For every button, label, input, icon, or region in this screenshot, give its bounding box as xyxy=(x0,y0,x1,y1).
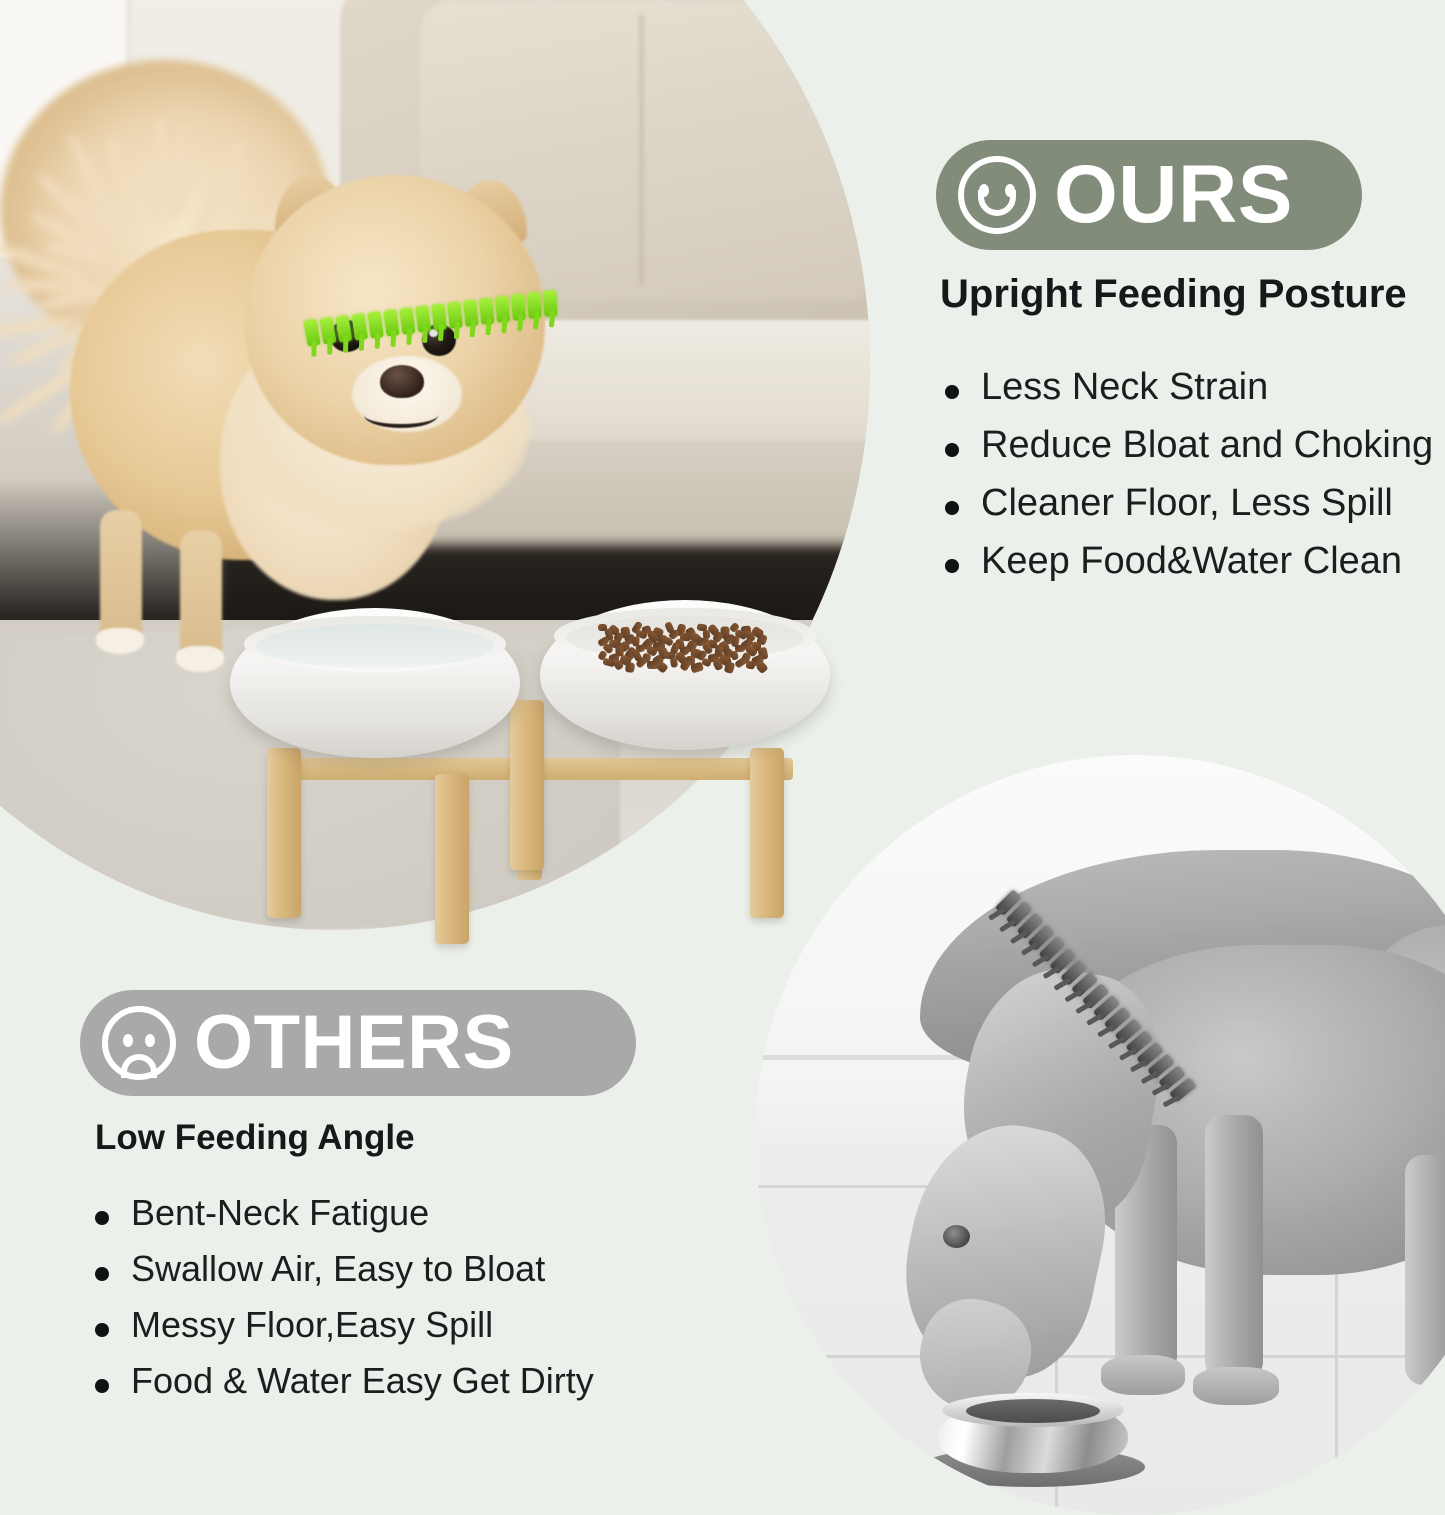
bullet-dot xyxy=(945,501,959,515)
infographic-canvas: OURS Upright Feeding Posture Less Neck S… xyxy=(0,0,1445,1445)
dog-eye xyxy=(943,1225,970,1248)
ours-badge: OURS xyxy=(936,140,1362,250)
list-item-label: Messy Floor,Easy Spill xyxy=(131,1304,493,1346)
frowning-face-icon xyxy=(102,1006,176,1080)
others-badge-label: OTHERS xyxy=(194,1005,514,1081)
others-lifestyle-photo xyxy=(755,755,1445,1515)
dog-mouth xyxy=(364,402,438,428)
list-item-label: Less Neck Strain xyxy=(981,366,1268,409)
steel-floor-bowl xyxy=(920,1385,1145,1493)
others-drawback-list: Bent-Neck Fatigue Swallow Air, Easy to B… xyxy=(95,1192,594,1416)
others-badge: OTHERS xyxy=(80,990,636,1096)
bullet-dot xyxy=(95,1379,109,1393)
dog-hind-leg xyxy=(1405,1155,1445,1385)
list-item-label: Cleaner Floor, Less Spill xyxy=(981,482,1393,525)
list-item-label: Swallow Air, Easy to Bloat xyxy=(131,1248,545,1290)
bullet-dot xyxy=(95,1267,109,1281)
stand-leg xyxy=(435,774,469,944)
food-bowl xyxy=(540,600,830,750)
list-item: Reduce Bloat and Choking xyxy=(945,424,1433,467)
frown-eye-left xyxy=(123,1034,133,1047)
list-item: Food & Water Easy Get Dirty xyxy=(95,1360,594,1402)
frown-eye-right xyxy=(145,1034,155,1047)
list-item-label: Keep Food&Water Clean xyxy=(981,540,1402,583)
stand-leg xyxy=(267,748,301,918)
bullet-dot xyxy=(945,443,959,457)
dog-mid-leg xyxy=(180,530,222,660)
bullet-dot xyxy=(95,1211,109,1225)
elevated-bowl-set xyxy=(225,600,845,930)
list-item: Less Neck Strain xyxy=(945,366,1433,409)
bowl-opening xyxy=(966,1399,1100,1423)
list-item-label: Bent-Neck Fatigue xyxy=(131,1192,429,1234)
smiley-mouth xyxy=(978,190,1016,216)
dog-front-leg xyxy=(1205,1115,1263,1380)
stand-leg xyxy=(510,700,544,870)
list-item: Cleaner Floor, Less Spill xyxy=(945,482,1433,525)
bullet-dot xyxy=(945,559,959,573)
dog-paw xyxy=(176,646,224,672)
list-item-label: Reduce Bloat and Choking xyxy=(981,424,1433,467)
list-item-label: Food & Water Easy Get Dirty xyxy=(131,1360,594,1402)
smiley-face-icon xyxy=(958,156,1036,234)
bullet-dot xyxy=(945,385,959,399)
frown-mouth xyxy=(121,1054,157,1078)
sofa-seam xyxy=(640,15,643,285)
ours-heading: Upright Feeding Posture xyxy=(940,272,1407,317)
others-heading: Low Feeding Angle xyxy=(95,1118,415,1158)
dog-paw xyxy=(96,628,144,654)
water-bowl xyxy=(230,608,520,758)
water-surface xyxy=(256,624,494,668)
ours-badge-label: OURS xyxy=(1054,154,1293,236)
list-item: Messy Floor,Easy Spill xyxy=(95,1304,594,1346)
list-item: Bent-Neck Fatigue xyxy=(95,1192,594,1234)
dog-nose xyxy=(380,365,424,398)
grayscale-dog xyxy=(815,795,1445,1495)
bullet-dot xyxy=(95,1323,109,1337)
dog-hind-leg xyxy=(100,510,142,640)
list-item: Swallow Air, Easy to Bloat xyxy=(95,1248,594,1290)
list-item: Keep Food&Water Clean xyxy=(945,540,1433,583)
pomeranian-dog xyxy=(30,80,590,640)
dog-paw xyxy=(1193,1367,1279,1405)
ours-benefit-list: Less Neck Strain Reduce Bloat and Chokin… xyxy=(945,366,1433,598)
